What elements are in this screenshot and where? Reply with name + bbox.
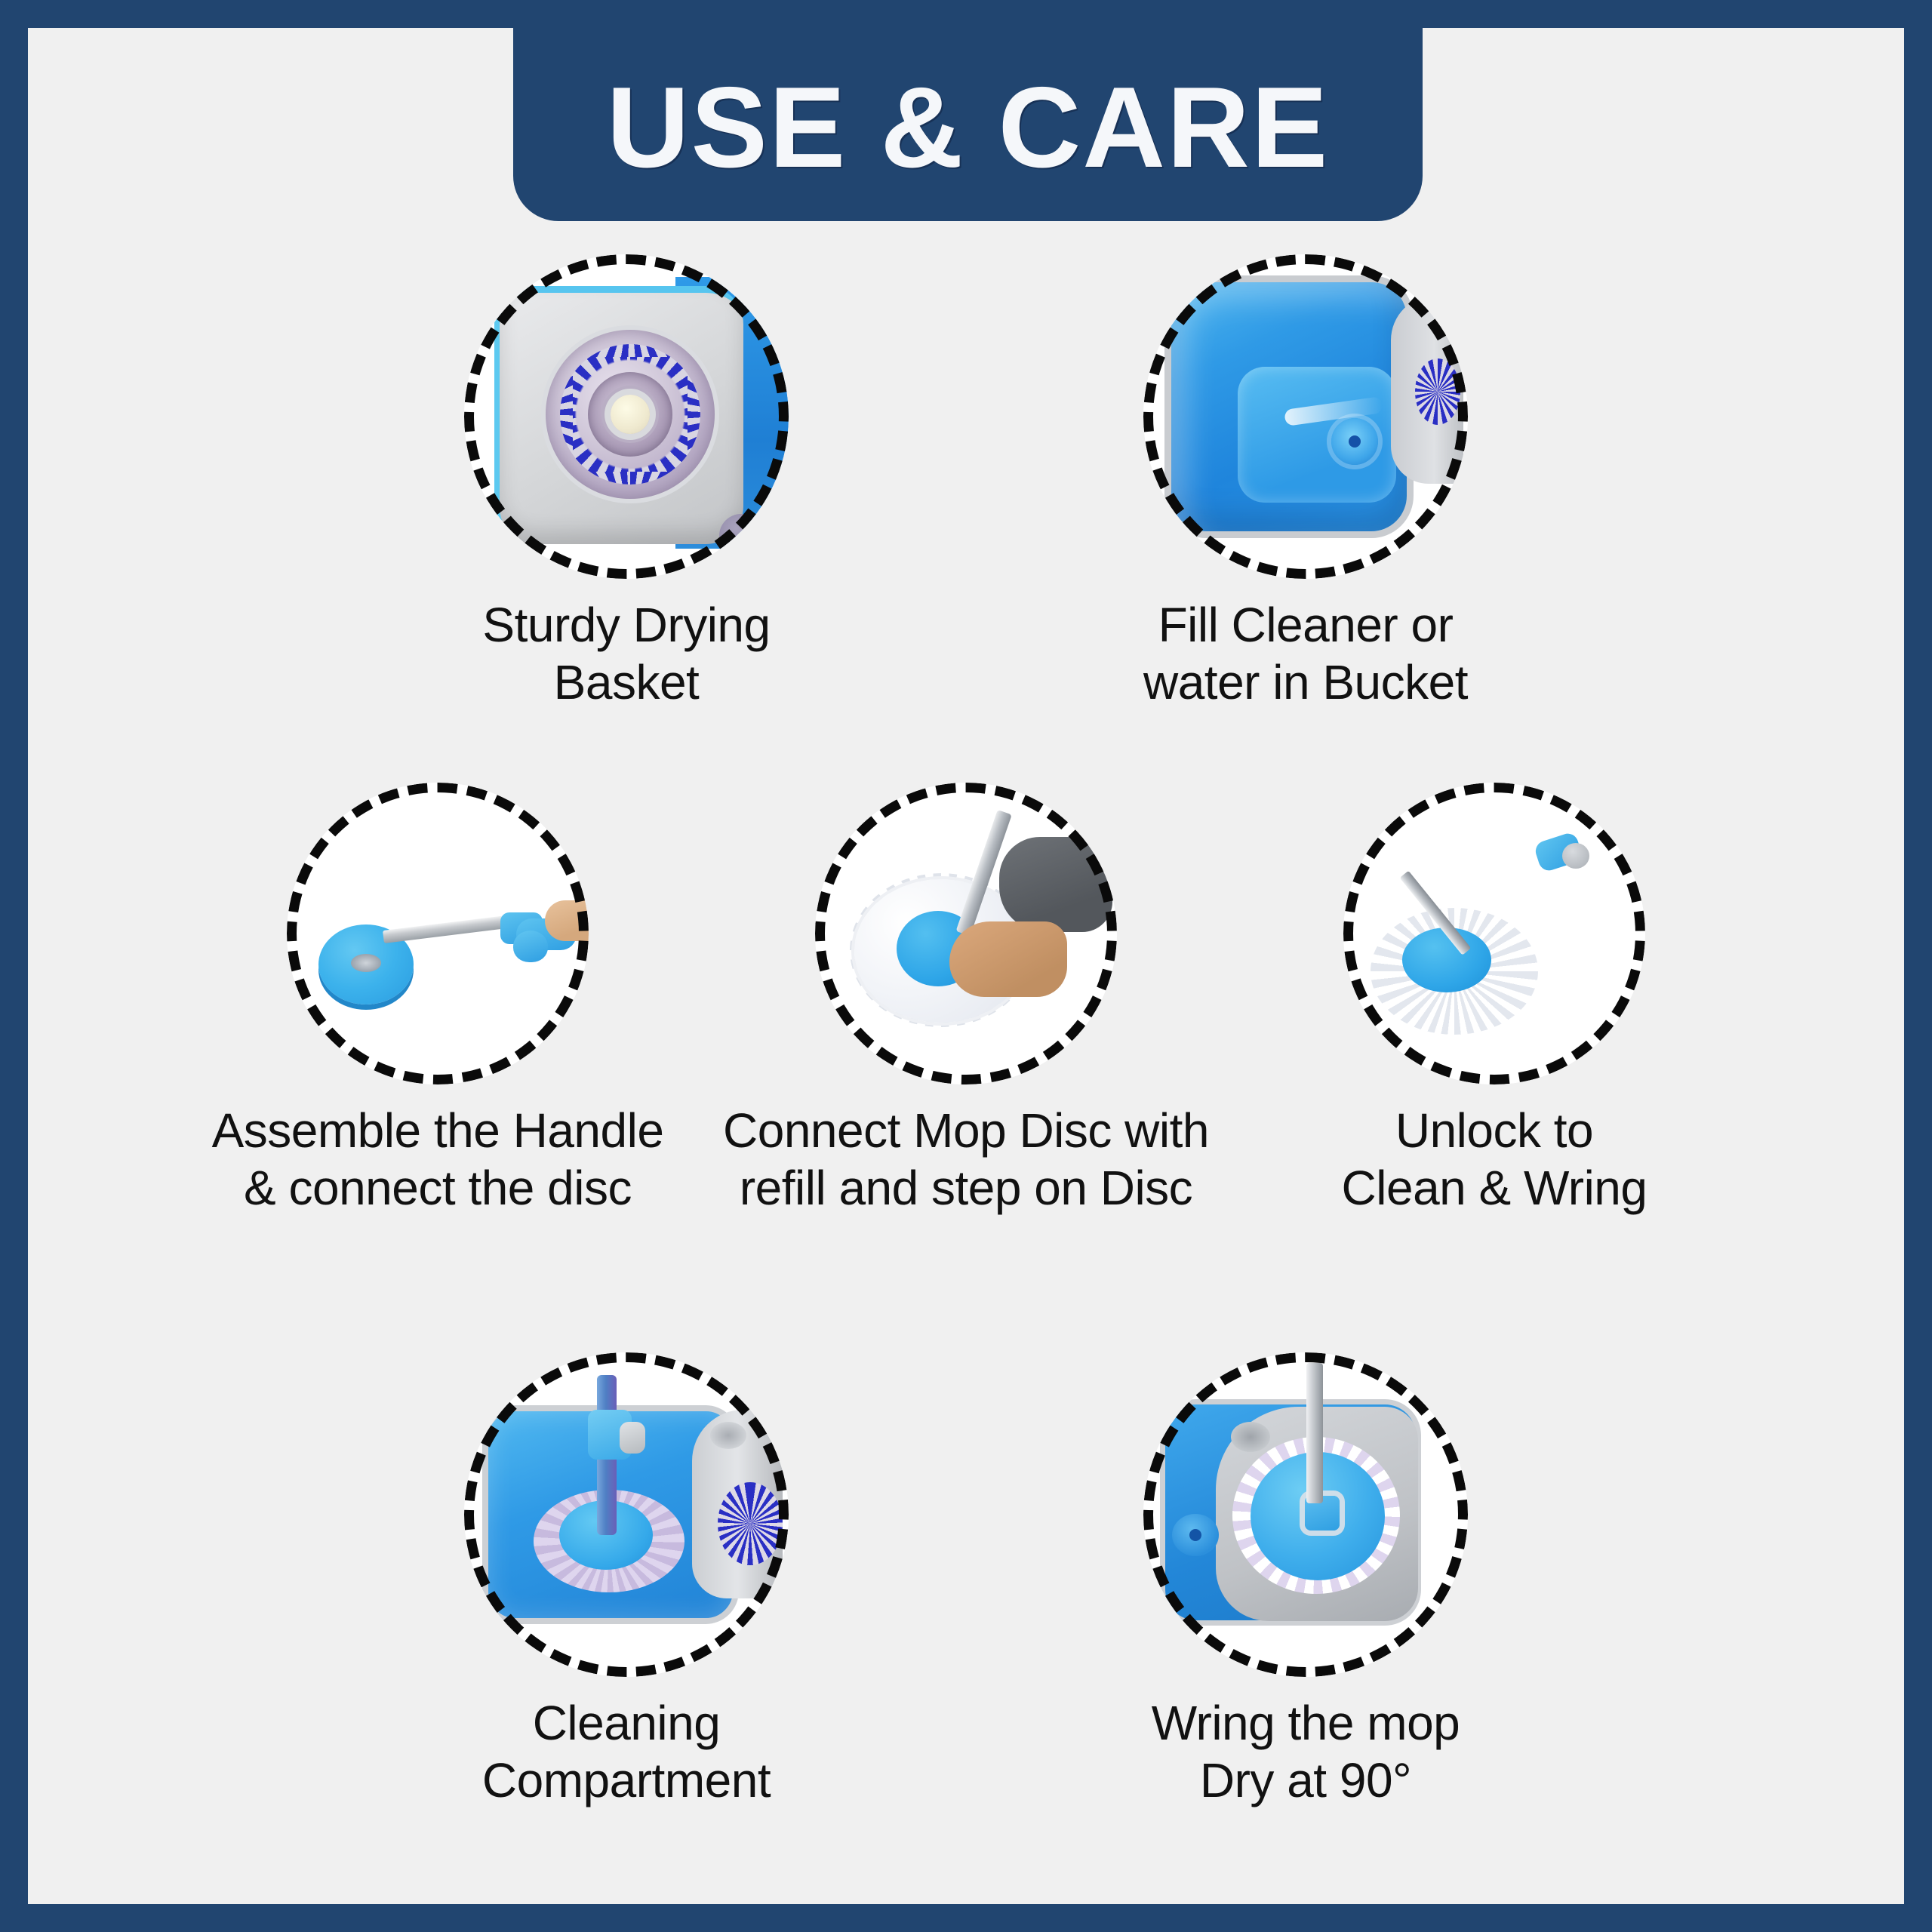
bucket-port [1231, 1422, 1270, 1452]
step-assemble-the-handle: Assemble the Handle & connect the disc [174, 783, 702, 1217]
bucket-gray-section [1391, 295, 1463, 484]
step-caption: Unlock to Clean & Wring [1342, 1103, 1647, 1217]
step-image-assemble-the-handle [287, 783, 589, 1084]
photo-wring-mop-dry [1143, 1352, 1468, 1677]
step-caption: Wring the mop Dry at 90° [1152, 1695, 1460, 1809]
mop-collar-cap [620, 1422, 645, 1454]
step-connect-mop-disc-with-refill: Connect Mop Disc with refill and step on… [702, 783, 1230, 1217]
sleeve [999, 837, 1112, 932]
hand [949, 921, 1067, 997]
mop-disc [1402, 928, 1491, 992]
photo-blue-bucket [1143, 254, 1468, 579]
mop-shaft [1306, 1363, 1323, 1503]
step-image-sturdy-drying-basket [464, 254, 789, 579]
step-image-cleaning-compartment [464, 1352, 789, 1677]
step-cleaning-compartment: Cleaning Compartment [287, 1352, 966, 1809]
step-caption: Cleaning Compartment [482, 1695, 771, 1809]
hand [545, 900, 589, 941]
bucket-body [1164, 275, 1414, 538]
steps-row-2: Assemble the Handle & connect the disc [28, 783, 1904, 1217]
page-title: USE & CARE [607, 70, 1329, 185]
step-image-wring-the-mop-dry [1143, 1352, 1468, 1677]
bucket-drain-plug [1331, 418, 1378, 465]
basket-hub [611, 395, 650, 434]
step-caption: Assemble the Handle & connect the disc [212, 1103, 664, 1217]
step-caption: Fill Cleaner or water in Bucket [1143, 597, 1468, 711]
photo-cleaning-compartment [464, 1352, 789, 1677]
poster-frame: USE & CARE [0, 0, 1932, 1932]
mop-end-cap [1562, 843, 1589, 869]
step-unlock-to-clean-and-wring: Unlock to Clean & Wring [1230, 783, 1758, 1217]
drying-basket [546, 330, 715, 499]
step-sturdy-drying-basket: Sturdy Drying Basket [287, 254, 966, 711]
step-caption: Connect Mop Disc with refill and step on… [723, 1103, 1209, 1217]
bucket-knob [719, 514, 763, 558]
bucket-drain-plug [1172, 1514, 1219, 1556]
steps-row-3: Cleaning Compartment [28, 1352, 1904, 1809]
poster-canvas: USE & CARE [28, 28, 1904, 1904]
mop-pole [383, 915, 512, 943]
photo-handle-and-disc [287, 783, 589, 1084]
mop-pedal-knob [513, 931, 548, 962]
step-image-fill-cleaner-or-water [1143, 254, 1468, 579]
steps-grid: Sturdy Drying Basket [28, 254, 1904, 1904]
step-image-unlock-to-clean-and-wring [1343, 783, 1645, 1084]
step-wring-the-mop-dry: Wring the mop Dry at 90° [966, 1352, 1645, 1809]
step-image-connect-mop-disc-with-refill [815, 783, 1117, 1084]
header-banner: USE & CARE [513, 28, 1423, 221]
step-caption: Sturdy Drying Basket [482, 597, 770, 711]
bucket-port [710, 1422, 746, 1449]
photo-mop-head-assembled [1343, 783, 1645, 1084]
steps-row-1: Sturdy Drying Basket [28, 254, 1904, 711]
photo-step-on-disc [815, 783, 1117, 1084]
photo-drying-basket [464, 254, 789, 579]
step-fill-cleaner-or-water: Fill Cleaner or water in Bucket [966, 254, 1645, 711]
